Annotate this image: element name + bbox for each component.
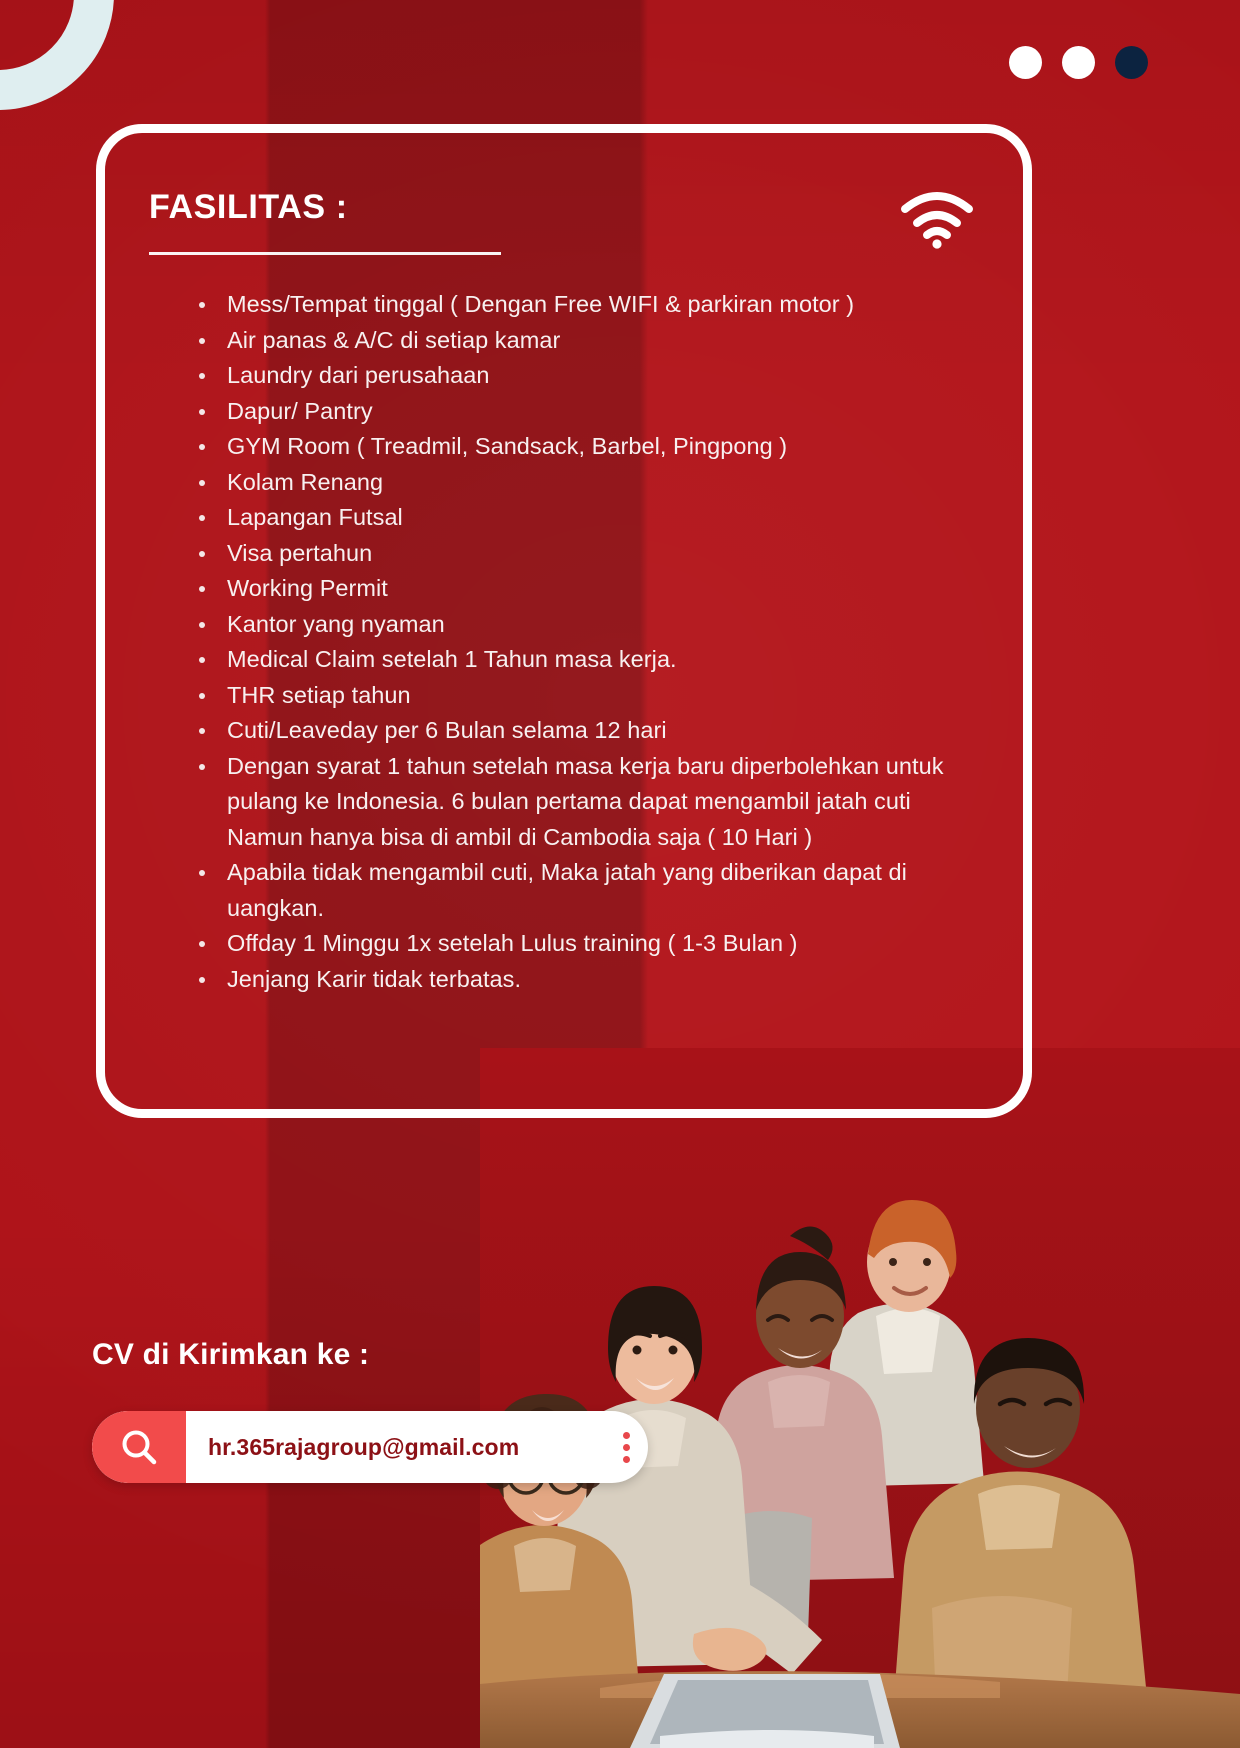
email-address: hr.365rajagroup@gmail.com — [186, 1434, 604, 1461]
title-underline — [149, 252, 501, 255]
kebab-dot-1 — [623, 1432, 630, 1439]
list-item: Laundry dari perusahaan — [193, 358, 979, 394]
list-item: Air panas & A/C di setiap kamar — [193, 323, 979, 359]
list-item: Medical Claim setelah 1 Tahun masa kerja… — [193, 642, 979, 678]
list-item: Kolam Renang — [193, 465, 979, 501]
list-item: Cuti/Leaveday per 6 Bulan selama 12 hari — [193, 713, 979, 749]
card-header: FASILITAS : — [149, 189, 979, 255]
poster-canvas: FASILITAS : Mess/Tempat tinggal ( Dengan… — [0, 0, 1240, 1748]
page-title: FASILITAS : — [149, 189, 501, 226]
list-item: Visa pertahun — [193, 536, 979, 572]
facilities-card: FASILITAS : Mess/Tempat tinggal ( Dengan… — [96, 124, 1032, 1118]
list-item: GYM Room ( Treadmil, Sandsack, Barbel, P… — [193, 429, 979, 465]
kebab-dot-3 — [623, 1456, 630, 1463]
list-item: Offday 1 Minggu 1x setelah Lulus trainin… — [193, 926, 979, 962]
list-item: Mess/Tempat tinggal ( Dengan Free WIFI &… — [193, 287, 979, 323]
top-dots-group — [1009, 46, 1148, 79]
card-title-group: FASILITAS : — [149, 189, 501, 255]
dot-navy — [1115, 46, 1148, 79]
email-search-bar[interactable]: hr.365rajagroup@gmail.com — [92, 1411, 648, 1483]
facilities-list: Mess/Tempat tinggal ( Dengan Free WIFI &… — [149, 287, 979, 997]
dot-white-2 — [1062, 46, 1095, 79]
list-item: Working Permit — [193, 571, 979, 607]
dot-white-1 — [1009, 46, 1042, 79]
list-item: Dapur/ Pantry — [193, 394, 979, 430]
kebab-dot-2 — [623, 1444, 630, 1451]
list-item: Dengan syarat 1 tahun setelah masa kerja… — [193, 749, 979, 856]
list-item: Kantor yang nyaman — [193, 607, 979, 643]
list-item: THR setiap tahun — [193, 678, 979, 714]
contact-label: CV di Kirimkan ke : — [92, 1338, 369, 1372]
list-item: Jenjang Karir tidak terbatas. — [193, 962, 979, 998]
list-item: Apabila tidak mengambil cuti, Maka jatah… — [193, 855, 979, 926]
search-icon[interactable] — [92, 1411, 186, 1483]
wifi-icon — [899, 191, 975, 254]
team-photo-collage — [480, 1048, 1240, 1748]
list-item: Lapangan Futsal — [193, 500, 979, 536]
